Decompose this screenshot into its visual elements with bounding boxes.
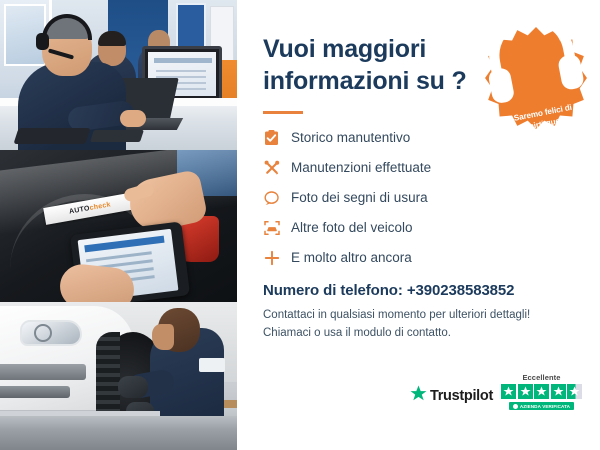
starburst-shape (484, 26, 588, 130)
car-sticker-inspection-photo: AUTOcheck (0, 150, 237, 302)
uniform-patch (199, 358, 225, 372)
sticker-text-primary: AUTO (69, 205, 91, 216)
clipboard-check-icon (263, 130, 280, 147)
plus-icon (263, 250, 280, 267)
callout-badge: Saremo felici di fornirti queste informa… (484, 26, 588, 130)
content-panel: Vuoi maggiori informazioni su ? Storico … (237, 0, 600, 450)
phone-number[interactable]: +390238583852 (407, 282, 515, 299)
feature-label: Storico manutentivo (291, 131, 410, 145)
rating-label: Eccellente (522, 373, 560, 382)
star-filled (501, 384, 516, 399)
sticker-text-secondary: check (89, 201, 111, 212)
feature-item-altre-foto: Altre foto del veicolo (263, 218, 574, 238)
headlight-ring (34, 324, 52, 342)
photo-column: AUTOcheck (0, 0, 237, 450)
feature-item-storico: Storico manutentivo (263, 128, 574, 148)
keyboard-secondary (90, 130, 144, 142)
promo-banner: AUTOcheck (0, 0, 600, 450)
car-frame-icon (263, 220, 280, 237)
verified-badge: AZIENDA VERIFICATA (509, 402, 574, 410)
car-on-lift-photo (0, 302, 237, 450)
trustpilot-rating: Eccellente (501, 373, 582, 410)
speech-bubble-icon (263, 190, 280, 207)
feature-label: Altre foto del veicolo (291, 221, 413, 235)
call-center-photo (0, 0, 237, 150)
agent-hand (120, 110, 146, 127)
verified-label: AZIENDA VERIFICATA (520, 404, 570, 409)
mechanic-glove-upper (118, 376, 148, 398)
monitor-toolbar (154, 58, 212, 63)
title-divider (263, 111, 303, 114)
contact-copy-line2: Chiamaci o usa il modulo di contatto. (263, 325, 574, 343)
mechanic-face (152, 324, 174, 350)
monitor-row (156, 70, 206, 72)
star-partial (567, 384, 582, 399)
keyboard (13, 128, 90, 144)
feature-label: Manutenzioni effettuate (291, 161, 431, 175)
feature-item-foto-usura: Foto dei segni di usura (263, 188, 574, 208)
car-grille (0, 364, 86, 380)
check-circle-icon (513, 404, 518, 409)
lift-platform (0, 416, 237, 450)
feature-item-altro: E molto altro ancora (263, 248, 574, 268)
car-lower-grille (0, 386, 70, 398)
star-rating (501, 384, 582, 399)
trustpilot-badge[interactable]: Trustpilot Eccellente (410, 373, 582, 410)
star-filled (534, 384, 549, 399)
feature-label: E molto altro ancora (291, 251, 412, 265)
contact-copy: Contattaci in qualsiasi momento per ulte… (263, 307, 574, 343)
headset-earcup (36, 33, 49, 50)
tablet-header-bar (84, 236, 164, 253)
star-filled (551, 384, 566, 399)
feature-label: Foto dei segni di usura (291, 191, 428, 205)
phone-line[interactable]: Numero di telefono: +390238583852 (263, 282, 574, 299)
page-title: Vuoi maggiori informazioni su ? (263, 34, 473, 97)
phone-label: Numero di telefono: (263, 282, 407, 299)
wall-poster (176, 3, 206, 49)
contact-copy-line1: Contattaci in qualsiasi momento per ulte… (263, 307, 574, 325)
feature-list: Storico manutentivo Manutenzioni effettu… (263, 128, 574, 268)
trustpilot-name: Trustpilot (430, 388, 493, 404)
colleague-mid-hair (98, 31, 126, 46)
star-filled (518, 384, 533, 399)
tools-cross-icon (263, 160, 280, 177)
feature-item-manutenzioni: Manutenzioni effettuate (263, 158, 574, 178)
trustpilot-star-icon (410, 385, 427, 407)
trustpilot-wordmark: Trustpilot (410, 385, 493, 410)
